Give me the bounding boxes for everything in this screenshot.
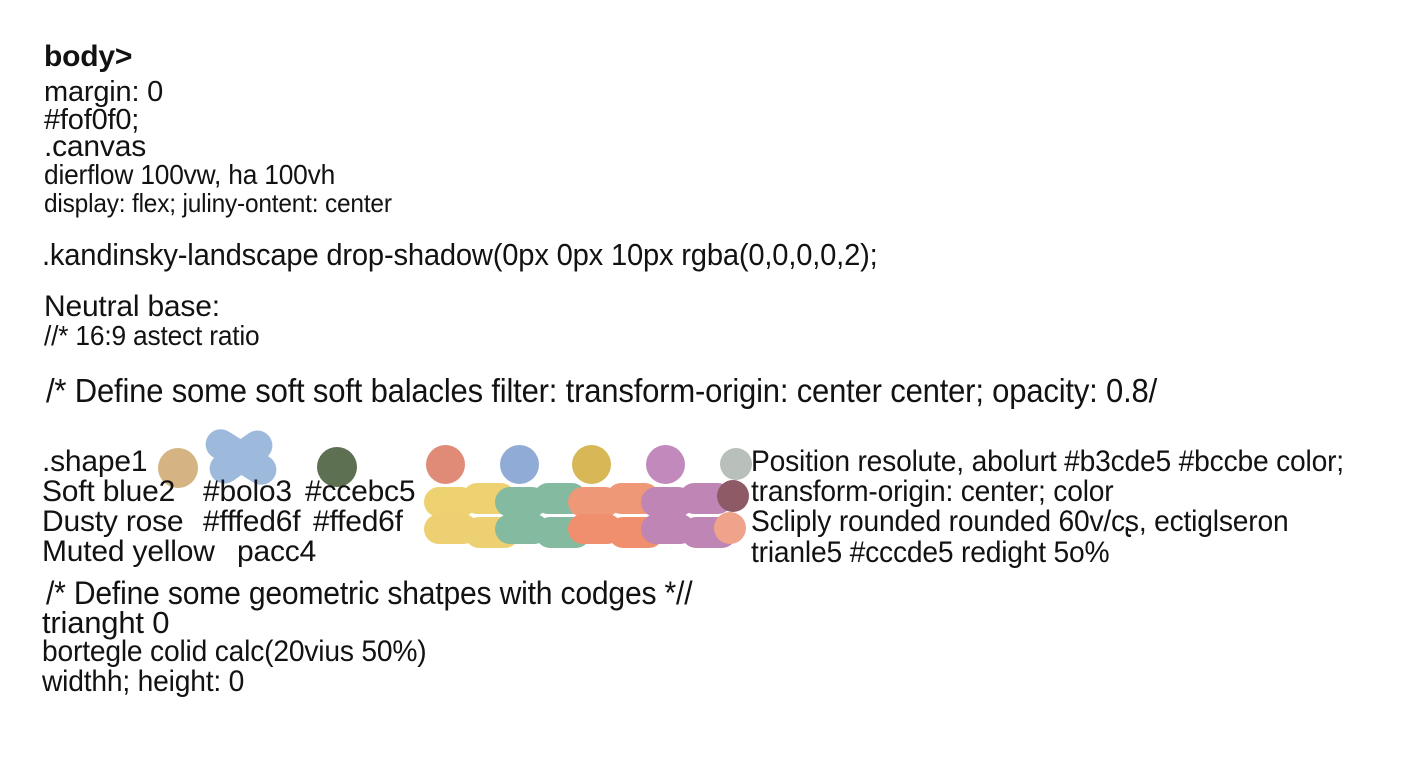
- code-line-bortegle: bortegle colid calc(20vius 50%): [42, 637, 426, 667]
- col3-blob-lower: [568, 514, 664, 548]
- palette-row-3-name: Muted yellow: [42, 537, 215, 567]
- notes-line-3: trianle5 #cccde5 redight 5o%: [751, 538, 1109, 568]
- code-line-dimensions: dierflow 100vw, ha 100vh: [44, 161, 335, 189]
- code-line-aspect-ratio: //* 16:9 astect ratio: [44, 322, 260, 350]
- col2-circle: [500, 445, 539, 484]
- code-line-kandinsky-landscape: .kandinsky-landscape drop-shadow(0px 0px…: [42, 239, 878, 270]
- col2-blob-lower: [495, 514, 591, 548]
- palette-row-1-hex-b: #ccebc5: [305, 477, 415, 507]
- code-line-display-flex: display: flex; juliny-ontent: center: [44, 190, 392, 216]
- col1-blob-lower: [424, 514, 520, 548]
- mini-peach-circle: [714, 512, 746, 544]
- mini-mauve-circle: [717, 480, 749, 512]
- code-line-trianght: trianght 0: [42, 607, 169, 638]
- code-line-margin: margin: 0: [44, 78, 163, 107]
- notes-line-2: Scliply rounded rounded 60v/cʂ, ectiglse…: [751, 507, 1288, 537]
- notes-line-0: Position resolute, abolurt #b3cde5 #bccb…: [751, 447, 1344, 477]
- canvas-root: body> margin: 0 #fof0f0; .canvas dierflo…: [0, 0, 1408, 768]
- palette-row-1-hex-a: #bolo3: [203, 477, 292, 507]
- label-neutral-base: Neutral base:: [44, 292, 220, 322]
- col3-circle: [572, 445, 611, 484]
- code-line-canvas-selector: .canvas: [44, 132, 146, 162]
- col4-blob-lower: [641, 514, 737, 548]
- notes-line-1: transform-origin: center; color: [751, 477, 1113, 507]
- code-line-body-selector: body>: [44, 42, 132, 72]
- col1-circle: [426, 445, 465, 484]
- col1-blob-upper: [424, 483, 516, 517]
- mini-gray-circle: [720, 448, 752, 480]
- palette-row-2-hex-b: #ffed6f: [313, 507, 403, 537]
- col3-blob-upper: [568, 483, 660, 517]
- col2-blob-upper: [495, 483, 587, 517]
- palette-row-3-hex-a: pacc4: [237, 537, 316, 567]
- palette-row-2-hex-a: #fffed6f: [203, 507, 300, 537]
- code-line-width-height: widthh; height: 0: [42, 667, 244, 697]
- code-line-soft-balacles-filter: /* Define some soft soft balacles filter…: [46, 374, 1157, 407]
- palette-row-1-name: Soft blue2: [42, 477, 175, 507]
- col4-circle: [646, 445, 685, 484]
- col4-blob-upper: [641, 483, 733, 517]
- palette-row-0-name: .shape1: [42, 447, 147, 477]
- palette-row-2-name: Dusty rose: [42, 507, 183, 537]
